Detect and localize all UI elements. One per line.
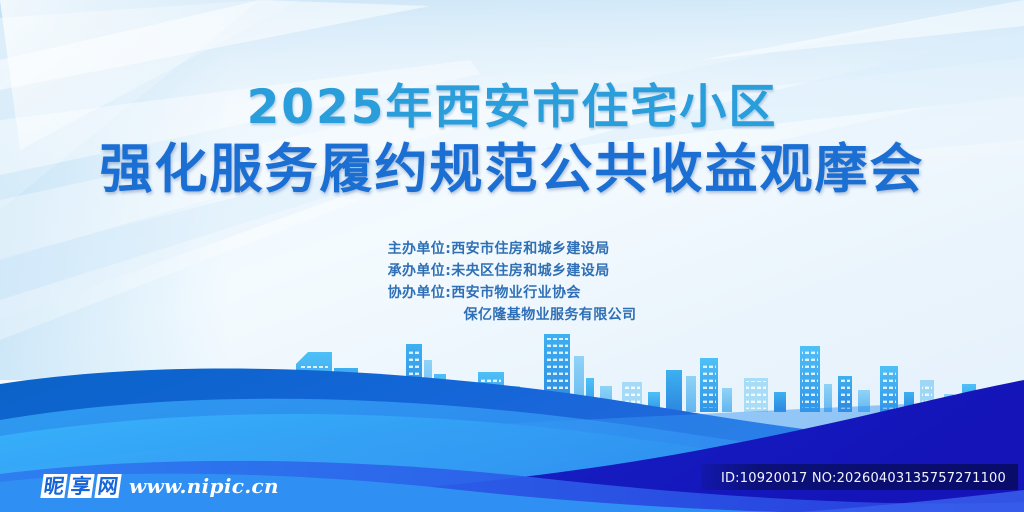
poster-canvas: 2025年西安市住宅小区 强化服务履约规范公共收益观摩会 主办单位:西安市住房和…: [0, 0, 1024, 512]
watermark-logo: 昵 享 网: [42, 474, 120, 498]
image-id-text: ID:10920017 NO:20260403135757271100: [721, 471, 1006, 486]
organizer-line-coorganizer: 协办单位:西安市物业行业协会: [388, 282, 637, 304]
organizer-line-undertaker: 承办单位:未央区住房和城乡建设局: [388, 260, 637, 282]
watermark-logo-char-1: 昵: [40, 474, 67, 498]
title-line-2: 强化服务履约规范公共收益观摩会: [0, 139, 1024, 200]
poster-headline: 2025年西安市住宅小区 强化服务履约规范公共收益观摩会: [0, 82, 1024, 200]
site-watermark: 昵 享 网 www.nipic.cn: [42, 474, 279, 498]
organizer-block: 主办单位:西安市住房和城乡建设局 承办单位:未央区住房和城乡建设局 协办单位:西…: [0, 238, 1024, 326]
title-line-1: 2025年西安市住宅小区: [0, 82, 1024, 135]
organizer-line-company: 保亿隆基物业服务有限公司: [388, 304, 637, 326]
watermark-logo-char-3: 网: [94, 474, 121, 498]
organizer-line-host: 主办单位:西安市住房和城乡建设局: [388, 238, 637, 260]
watermark-url: www.nipic.cn: [129, 474, 279, 498]
image-id-strip: ID:10920017 NO:20260403135757271100: [701, 464, 1018, 490]
watermark-logo-char-2: 享: [67, 474, 94, 498]
